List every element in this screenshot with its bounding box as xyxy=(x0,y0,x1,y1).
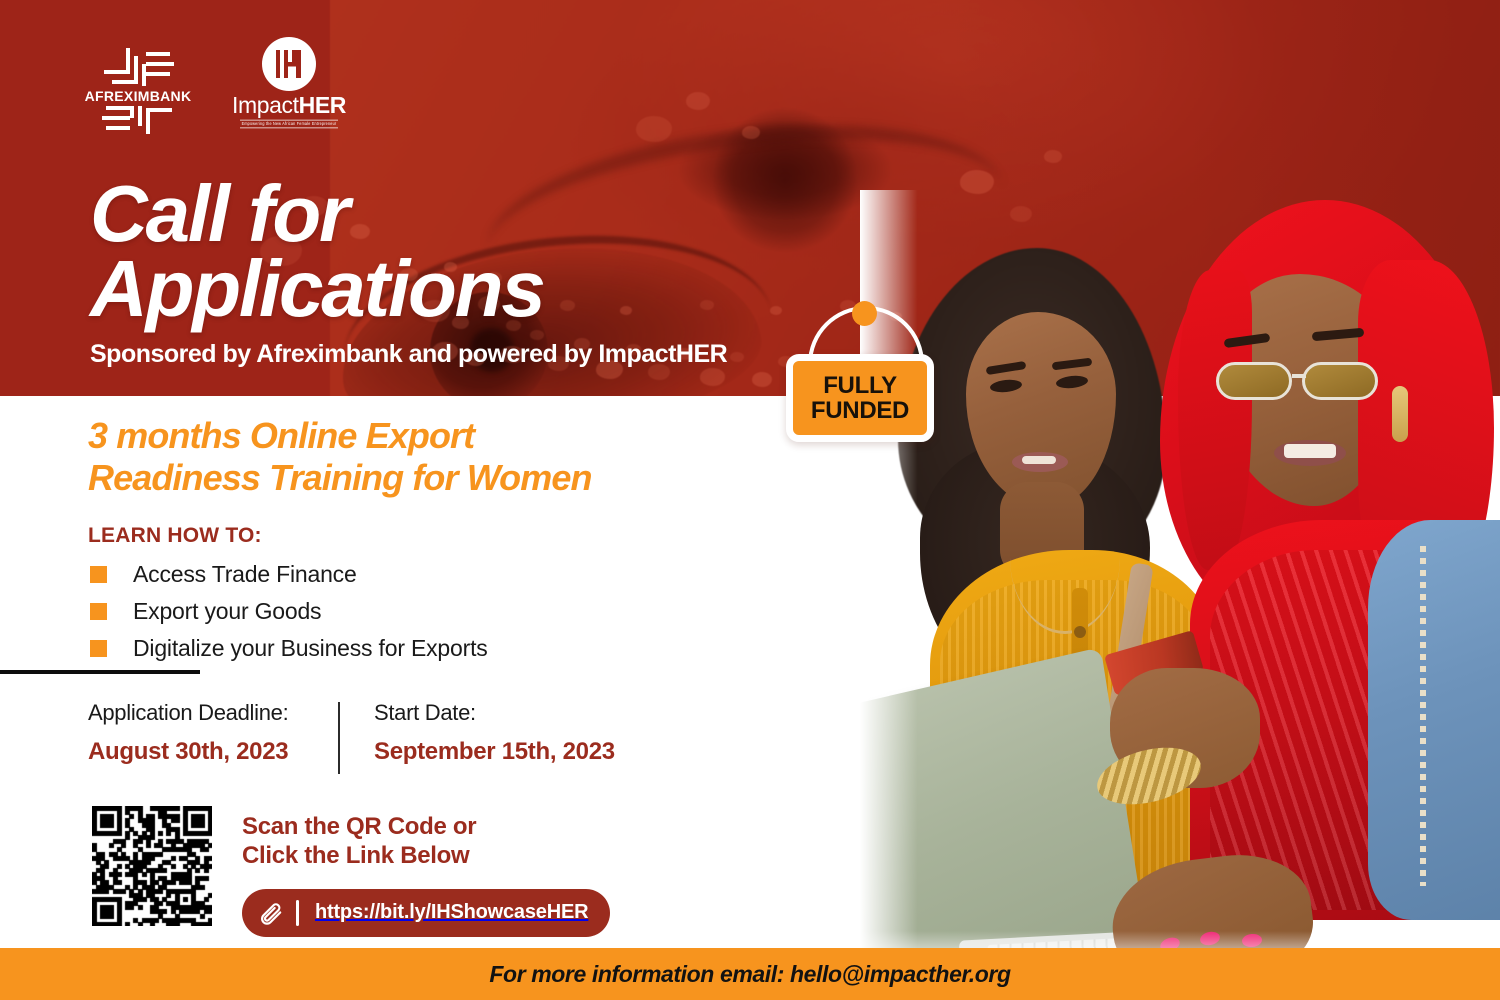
sunglasses-lens-left xyxy=(1216,362,1292,400)
headline-block: Call for Applications Sponsored by Afrex… xyxy=(90,176,727,369)
list-item: Digitalize your Business for Exports xyxy=(90,630,488,666)
list-item: Export your Goods xyxy=(90,593,488,629)
qr-instruction-line-1: Scan the QR Code or xyxy=(242,812,610,841)
application-deadline-label: Application Deadline: xyxy=(88,700,338,726)
qr-instruction-line-2: Click the Link Below xyxy=(242,841,610,870)
badge-pin-dot-icon xyxy=(852,301,877,326)
qr-code[interactable] xyxy=(92,806,212,926)
bullet-square-icon xyxy=(90,603,107,620)
badge-line-1: FULLY xyxy=(823,373,897,398)
learning-outcomes-list: Access Trade Finance Export your Goods D… xyxy=(90,556,488,667)
afreximbank-wordmark: AFREXIMBANK xyxy=(85,88,192,104)
sunglasses-bridge xyxy=(1292,374,1306,378)
start-date-group: Start Date: September 15th, 2023 xyxy=(340,700,615,766)
afreximbank-logo: AFREXIMBANK xyxy=(84,36,192,146)
woman-right-denim-jacket xyxy=(1368,520,1500,920)
badge-line-2: FUNDED xyxy=(811,398,909,423)
poster-canvas: AFREXIMBANK ImpactHER Empowering the New… xyxy=(0,0,1500,1000)
application-link-button[interactable]: https://bit.ly/IHShowcaseHER xyxy=(242,889,610,937)
program-subtitle: 3 months Online Export Readiness Trainin… xyxy=(88,415,592,500)
woman-left-button xyxy=(1074,626,1086,638)
headline-line-2: Applications xyxy=(90,251,727,326)
decorative-dot xyxy=(686,92,710,110)
application-deadline-value: August 30th, 2023 xyxy=(88,738,338,766)
impacther-tagline: Empowering the New African Female Entrep… xyxy=(240,120,339,129)
impacther-wordmark: ImpactHER xyxy=(232,94,346,117)
section-divider-rule xyxy=(0,670,200,674)
decorative-dot xyxy=(700,368,725,386)
paperclip-link-icon xyxy=(258,900,284,926)
list-item-label: Export your Goods xyxy=(133,598,321,625)
start-date-label: Start Date: xyxy=(374,700,615,726)
application-link-url: https://bit.ly/IHShowcaseHER xyxy=(315,901,588,924)
decorative-dot xyxy=(636,116,672,142)
badge-plate: FULLY FUNDED xyxy=(786,354,934,442)
decorative-dot xyxy=(752,372,772,387)
list-item-label: Digitalize your Business for Exports xyxy=(133,635,488,662)
program-subtitle-line-1: 3 months Online Export xyxy=(88,415,592,457)
laptop-lid xyxy=(860,647,1152,970)
learn-how-to-label: LEARN HOW TO: xyxy=(88,524,262,548)
bullet-square-icon xyxy=(90,640,107,657)
qr-instruction-text: Scan the QR Code or Click the Link Below xyxy=(242,812,610,871)
impacther-wordmark-bold: HER xyxy=(299,92,346,118)
footer-bar: For more information email: hello@impact… xyxy=(0,948,1500,1000)
footer-contact-text: For more information email: hello@impact… xyxy=(489,961,1010,988)
headline-line-1: Call for xyxy=(90,176,727,251)
decorative-dot xyxy=(742,126,760,139)
qr-instructions-block: Scan the QR Code or Click the Link Below… xyxy=(242,806,610,937)
link-divider xyxy=(296,900,299,926)
woman-right-hijab-front-fold xyxy=(1178,270,1252,570)
application-deadline-group: Application Deadline: August 30th, 2023 xyxy=(88,700,338,766)
sunglasses-lens-right xyxy=(1302,362,1378,400)
logo-row: AFREXIMBANK ImpactHER Empowering the New… xyxy=(84,36,344,146)
list-item: Access Trade Finance xyxy=(90,556,488,592)
impacther-wordmark-light: Impact xyxy=(232,92,299,118)
sponsor-line: Sponsored by Afreximbank and powered by … xyxy=(90,340,727,369)
woman-right-sunglasses xyxy=(1216,358,1406,402)
impacther-logo: ImpactHER Empowering the New African Fem… xyxy=(234,36,344,132)
denim-stitch-seam xyxy=(1420,546,1426,886)
qr-and-link-block: Scan the QR Code or Click the Link Below… xyxy=(92,806,610,937)
decorative-dot xyxy=(730,352,744,362)
bullet-square-icon xyxy=(90,566,107,583)
impacther-monogram-icon xyxy=(261,36,317,92)
key-dates-block: Application Deadline: August 30th, 2023 … xyxy=(88,700,615,774)
participants-photo xyxy=(860,190,1500,970)
decorative-dot xyxy=(770,306,782,315)
fully-funded-badge: FULLY FUNDED xyxy=(786,298,946,443)
woman-right-teeth xyxy=(1284,444,1336,458)
program-subtitle-line-2: Readiness Training for Women xyxy=(88,457,592,499)
woman-right-earring xyxy=(1392,386,1408,442)
list-item-label: Access Trade Finance xyxy=(133,561,357,588)
woman-left-teeth xyxy=(1022,456,1056,464)
start-date-value: September 15th, 2023 xyxy=(374,738,615,766)
